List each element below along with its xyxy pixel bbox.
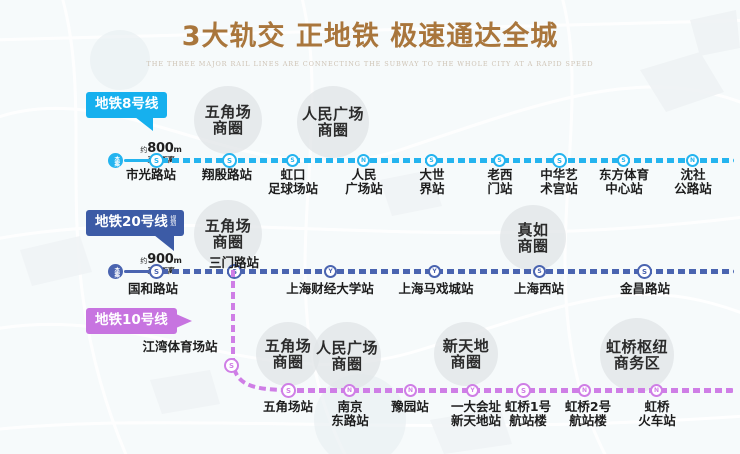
district-bubble-renminguangchang-l8: 人民广场 商圈 (297, 86, 369, 158)
station-label-circus-world: 上海马戏城站 (378, 282, 494, 296)
station-label-jinchanglu: 金昌路站 (595, 282, 695, 296)
bubble-line2: 商圈 (212, 234, 243, 250)
station-dot-hongkou-stadium[interactable]: S (286, 154, 299, 167)
station-dot-hongqiao-t2[interactable]: N (578, 384, 591, 397)
station-icon: N (690, 158, 695, 164)
station-label-shanghai-west: 上海西站 (489, 282, 589, 296)
bubble-line1: 人民广场 (316, 340, 378, 356)
station-label-shiguanglu: 市光路站 (116, 168, 186, 182)
station-label-shenshe-road: 沈社 公路站 (660, 168, 726, 196)
district-bubble-wujiaochang-l10: 五角场 商圈 (256, 322, 320, 386)
bubble-line1: 真如 (517, 222, 548, 238)
bubble-line1: 新天地 (443, 338, 490, 354)
bubble-line2: 商圈 (331, 356, 362, 372)
station-icon: S (227, 158, 232, 164)
station-dot-renmin-square[interactable]: N (357, 154, 370, 167)
distance-unit: m (173, 256, 181, 265)
station-label-sufe: 上海财经大学站 (272, 282, 388, 296)
origin-marker-line20: 本案 (108, 264, 123, 279)
station-icon: S (290, 158, 294, 164)
district-bubble-xintiandi: 新天地 商圈 (434, 322, 498, 386)
bubble-line2: 商圈 (450, 354, 481, 370)
transit-infographic: 3大轨交 正地铁 极速通达全城 THE THREE MAJOR RAIL LIN… (0, 0, 740, 454)
station-icon: S (286, 388, 291, 394)
district-bubble-zhenru: 真如 商圈 (500, 205, 566, 271)
bubble-line1: 虹桥枢纽 (606, 339, 668, 355)
badge-tail-icon (135, 117, 153, 131)
station-dot-xiangyinlu[interactable]: S (222, 153, 237, 168)
station-label-jiangwan-stadium: 江湾体育场站 (130, 340, 230, 354)
station-icon: N (361, 158, 366, 164)
station-label-oriental-sports-center: 东方体育 中心站 (586, 168, 662, 196)
station-icon: S (621, 158, 625, 164)
station-label-dashijie: 大世 界站 (400, 168, 464, 196)
station-dot-wujiaochang[interactable]: S (281, 383, 296, 398)
station-label-nanjing-east: 南京 东路站 (317, 400, 383, 428)
station-label-yuyuan: 豫园站 (375, 400, 445, 414)
station-icon: S (154, 158, 159, 164)
bubble-line2: 商圈 (212, 120, 243, 136)
station-dot-jinchanglu[interactable]: S (637, 264, 652, 279)
station-dot-oriental-sports-center[interactable]: S (617, 154, 630, 167)
station-dot-xintiandi[interactable]: Y (466, 384, 479, 397)
station-label-laoximen: 老西 门站 (468, 168, 532, 196)
station-dot-sufe[interactable]: Y (324, 265, 337, 278)
bubble-line1: 人民广场 (302, 106, 364, 122)
station-label-guohelu: 国和路站 (118, 282, 188, 296)
rail-connector-vertical-line10 (231, 270, 235, 365)
line-badge-line10[interactable]: 地铁10号线 (86, 308, 177, 334)
station-icon: S (642, 269, 647, 275)
station-dot-shanghai-west[interactable]: S (533, 265, 546, 278)
distance-unit: m (173, 145, 181, 154)
station-label-xiangyinlu: 翔殷路站 (191, 168, 263, 182)
bubble-line1: 五角场 (265, 338, 312, 354)
station-icon: S (537, 269, 541, 275)
line-badge-label-line10: 地铁10号线 (95, 312, 168, 328)
station-icon: Y (328, 269, 332, 275)
station-dot-guohelu[interactable]: S (149, 264, 164, 279)
bubble-line2: 商圈 (272, 354, 303, 370)
station-dot-hongqiao-t1[interactable]: S (516, 383, 531, 398)
badge-tail-icon (176, 314, 192, 328)
station-dot-china-art-museum[interactable]: S (552, 153, 567, 168)
station-icon: N (582, 388, 587, 394)
station-dot-nanjing-east[interactable]: N (343, 384, 356, 397)
district-bubble-renminguangchang-l10: 人民广场 商圈 (313, 322, 381, 390)
station-icon: Y (432, 269, 436, 275)
station-dot-yuyuan[interactable]: N (404, 384, 417, 397)
station-icon: N (408, 388, 413, 394)
station-icon: S (229, 363, 234, 369)
district-bubble-hongqiao-hub: 虹桥枢纽 商务区 (600, 318, 674, 392)
station-icon: S (497, 158, 501, 164)
station-dot-laoximen[interactable]: S (493, 154, 506, 167)
bubble-line1: 五角场 (205, 104, 252, 120)
station-dot-dashijie[interactable]: S (425, 154, 438, 167)
station-icon: N (654, 388, 659, 394)
station-dot-shiguanglu[interactable]: S (149, 153, 164, 168)
bubble-line2: 商圈 (517, 238, 548, 254)
station-dot-jiangwan-stadium[interactable]: S (224, 358, 239, 373)
line-badge-label-line20: 地铁20号线 (95, 214, 168, 230)
line-badge-label-line8: 地铁8号线 (95, 96, 158, 112)
bubble-line2: 商务区 (614, 355, 661, 371)
station-icon: N (347, 388, 352, 394)
page-subtitle: THE THREE MAJOR RAIL LINES ARE CONNECTIN… (0, 60, 740, 68)
station-label-sanmenlu: 三门路站 (199, 256, 269, 270)
station-label-china-art-museum: 中华艺 术宫站 (526, 168, 592, 196)
line-badge-line20[interactable]: 地铁20号线规划 (86, 210, 184, 236)
station-label-hongqiao-t2: 虹桥2号 航站楼 (552, 400, 624, 428)
bubble-line2: 商圈 (317, 122, 348, 138)
line-badge-sup-line20: 规划 (169, 215, 175, 225)
station-icon: S (557, 158, 562, 164)
rail-track-line8 (150, 158, 734, 163)
station-dot-circus-world[interactable]: Y (428, 265, 441, 278)
line-badge-line8[interactable]: 地铁8号线 (86, 92, 167, 118)
page-title: 3大轨交 正地铁 极速通达全城 (0, 18, 740, 56)
header: 3大轨交 正地铁 极速通达全城 THE THREE MAJOR RAIL LIN… (0, 18, 740, 68)
station-label-hongkou-stadium: 虹口 足球场站 (260, 168, 326, 196)
station-icon: Y (470, 388, 474, 394)
origin-marker-line8: 本案 (108, 153, 123, 168)
station-icon: S (154, 269, 159, 275)
station-icon: S (429, 158, 433, 164)
station-label-hongqiao-railway: 虹桥 火车站 (624, 400, 690, 428)
district-bubble-wujiaochang-l8: 五角场 商圈 (194, 86, 262, 154)
station-label-renmin-square: 人民 广场站 (331, 168, 397, 196)
station-dot-hongqiao-railway[interactable]: N (650, 384, 663, 397)
station-dot-shenshe-road[interactable]: N (686, 154, 699, 167)
bubble-line1: 五角场 (205, 218, 252, 234)
station-icon: S (521, 388, 526, 394)
